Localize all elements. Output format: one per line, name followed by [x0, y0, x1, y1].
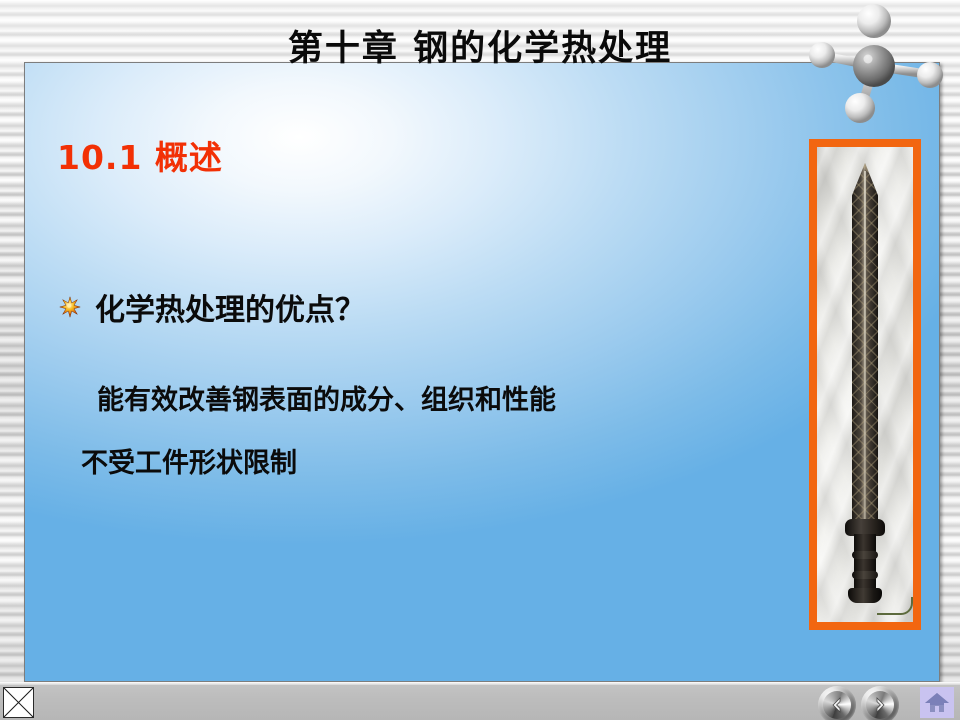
- bullet-list-item: 化学热处理的优点？: [59, 285, 365, 329]
- sword-grip: [854, 534, 876, 592]
- page-title: 第十章 钢的化学热处理: [0, 20, 960, 71]
- missing-image-placeholder: [3, 687, 34, 718]
- body-text-line-1: 能有效改善钢表面的成分、组织和性能: [97, 378, 556, 417]
- sword-image-frame: [809, 139, 921, 630]
- chevron-right-icon: [866, 691, 894, 719]
- home-button[interactable]: [920, 687, 954, 718]
- section-title-text: 概述: [155, 138, 223, 177]
- sunburst-star-bullet-icon: [59, 296, 81, 318]
- section-number: 10.1: [57, 138, 142, 177]
- chevron-left-icon: [823, 691, 851, 719]
- bullet-item-label: 化学热处理的优点？: [95, 285, 365, 329]
- ancient-bronze-sword-photo: [817, 147, 913, 622]
- slide-content-panel: 10.1 概述 化学热处理的优: [24, 62, 940, 682]
- presentation-slide: 10.1 概述 化学热处理的优: [0, 0, 960, 720]
- sword-grip-ring-lower: [852, 571, 878, 579]
- sword-blade-ridge: [864, 171, 866, 523]
- body-text-line-2: 不受工件形状限制: [81, 441, 297, 480]
- nav-next-button[interactable]: [861, 686, 899, 720]
- section-heading: 10.1 概述: [57, 131, 223, 179]
- sword-cord: [877, 597, 913, 615]
- slide-bottom-bar: [0, 682, 960, 720]
- slide-bottom-bar-highlight: [0, 682, 960, 685]
- nav-back-button[interactable]: [818, 686, 856, 720]
- home-icon: [924, 691, 950, 714]
- sword-grip-ring-upper: [852, 551, 878, 559]
